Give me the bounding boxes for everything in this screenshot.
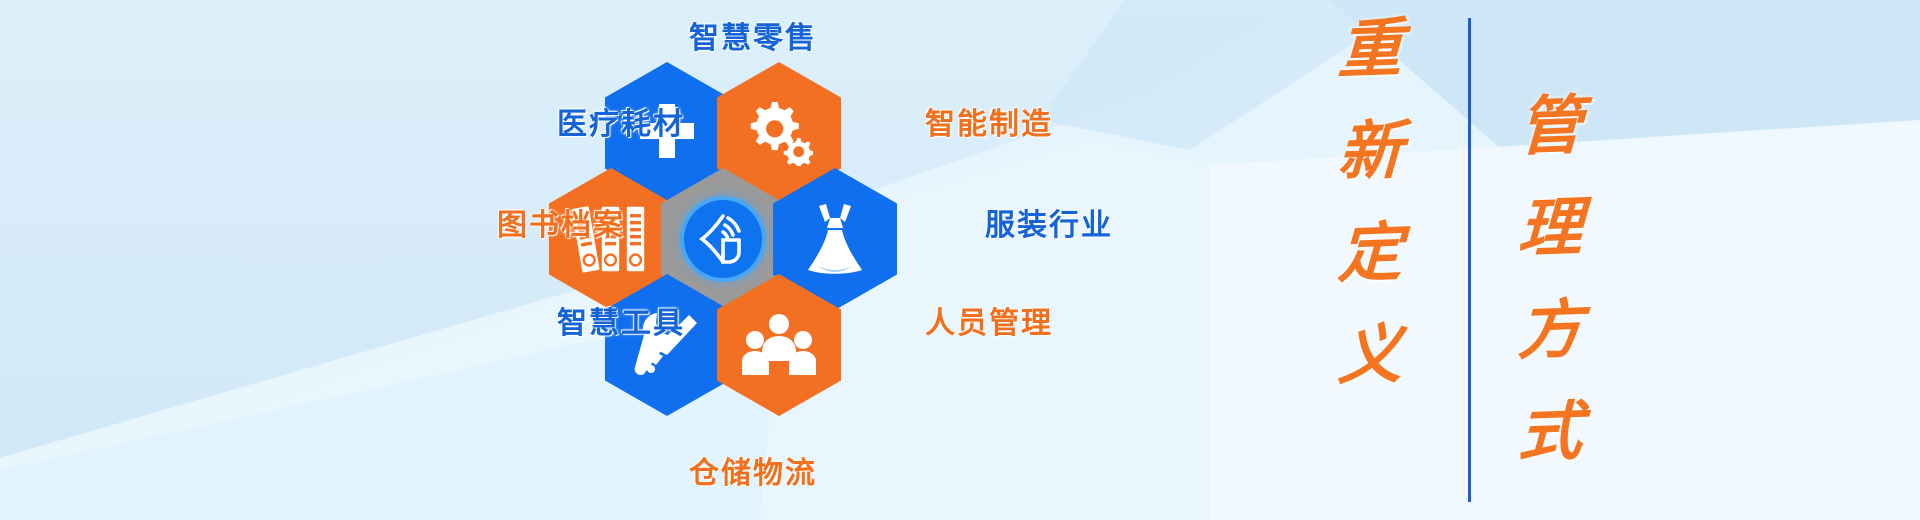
slogan-char: 式: [1489, 399, 1611, 467]
label-smart-manufacturing: 智能制造: [925, 99, 1053, 143]
slogan-char: 定: [1309, 220, 1431, 288]
gears-icon: [745, 100, 813, 166]
label-smart-tools: 智慧工具: [470, 298, 685, 342]
slogan-column-right: 管 理 方 式: [1490, 95, 1610, 503]
people-group-icon: [742, 313, 816, 377]
slogan-column-left: 重 新 定 义: [1310, 12, 1430, 426]
industry-solutions-banner: 智慧零售 医疗耗材 图书档案 智慧工具 仓储物流 智能制造 服装行业 人员管理 …: [0, 0, 1920, 520]
rfid-signal-logo-icon: [694, 210, 752, 268]
label-smart-retail: 智慧零售: [689, 13, 817, 57]
label-medical-consumables: 医疗耗材: [470, 99, 685, 143]
slogan-calligraphy: 重 新 定 义 管 理 方 式: [1300, 0, 1700, 520]
slogan-divider-line: [1468, 18, 1471, 502]
label-personnel-management: 人员管理: [925, 298, 1053, 342]
slogan-char: 管: [1489, 93, 1611, 161]
dress-icon: [802, 202, 868, 276]
label-books-archive: 图书档案: [410, 200, 625, 244]
slogan-char: 重: [1309, 16, 1431, 84]
slogan-char: 新: [1309, 118, 1431, 186]
label-warehouse-logistics: 仓储物流: [689, 448, 817, 492]
slogan-char: 方: [1489, 297, 1611, 365]
label-apparel-industry: 服装行业: [985, 200, 1113, 244]
slogan-char: 理: [1489, 195, 1611, 263]
slogan-char: 义: [1309, 322, 1431, 390]
center-logo-badge: [684, 200, 762, 278]
